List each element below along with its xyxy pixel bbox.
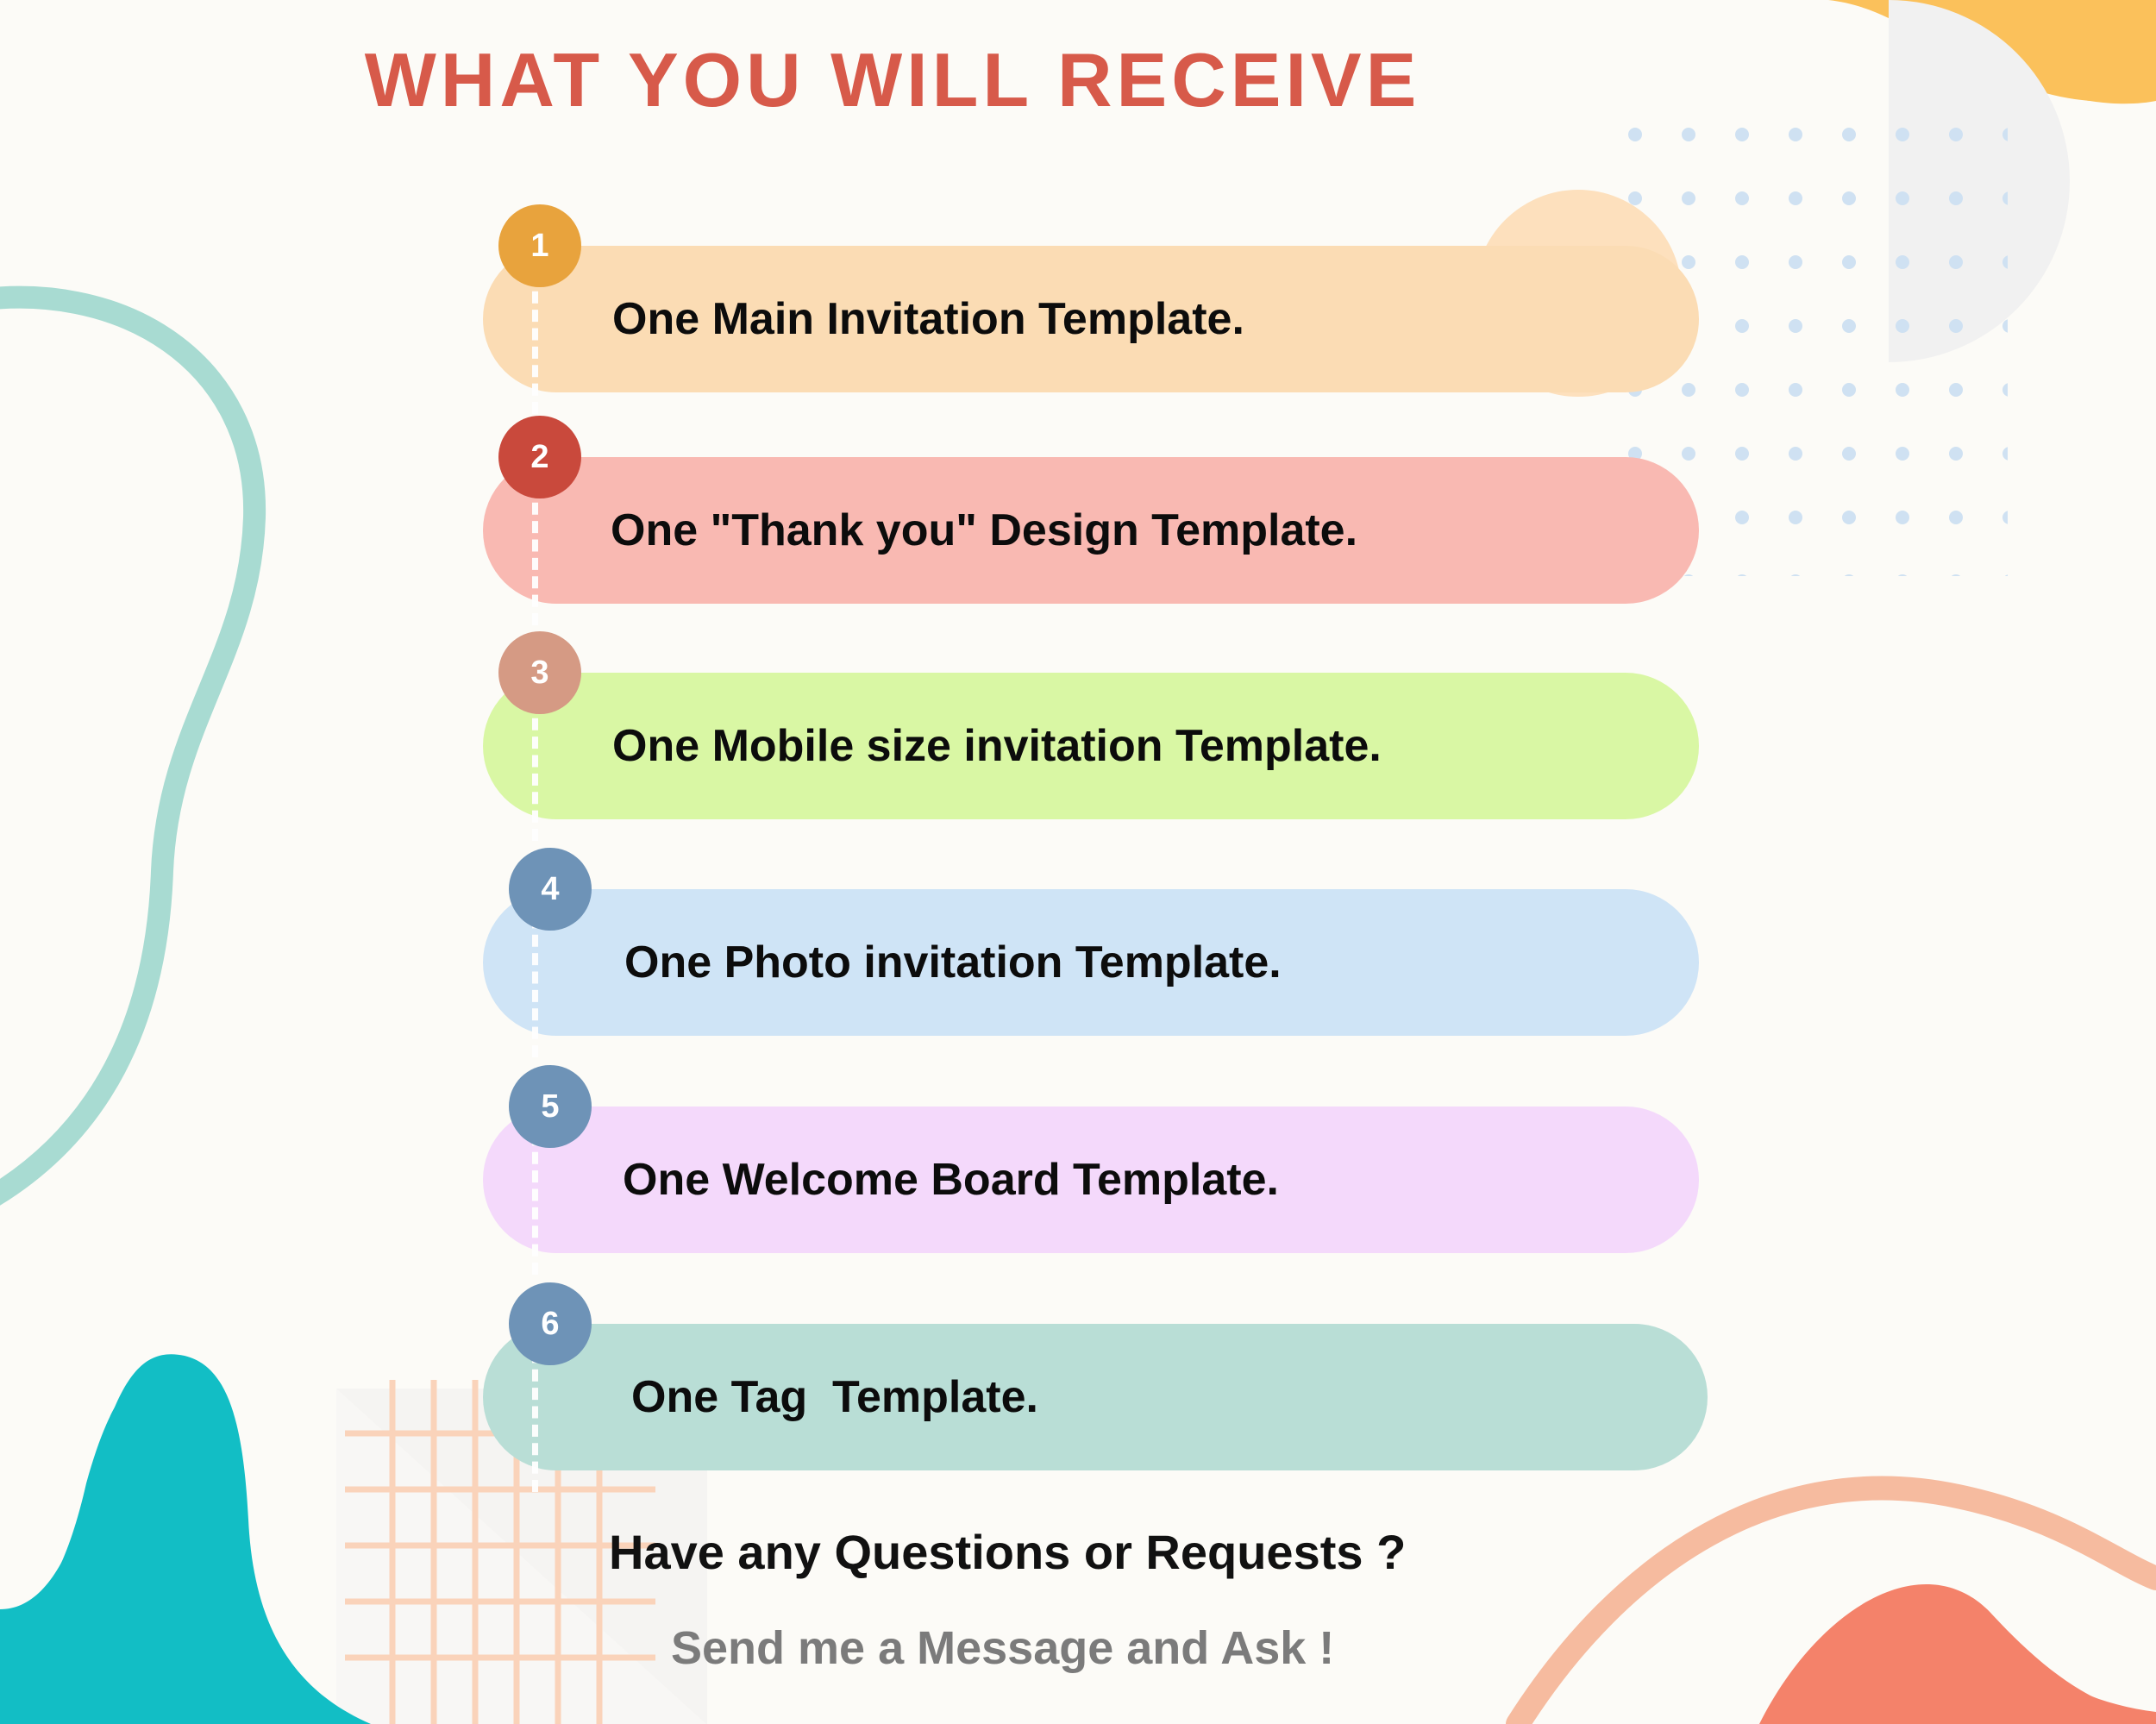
- footer-question: Have any Questions or Requests ?: [609, 1524, 1406, 1580]
- item-number-badge: 3: [498, 631, 581, 714]
- item-number-badge: 1: [498, 204, 581, 287]
- infographic-page: WHAT YOU WILL RECEIVE 1 One Main Invitat…: [0, 0, 2156, 1724]
- item-number: 3: [530, 656, 548, 689]
- item-number: 6: [541, 1307, 559, 1340]
- benefits-list: 1 One Main Invitation Template. 2 One "T…: [0, 0, 2156, 1724]
- footer-answer: Send me a Message and Ask !: [671, 1621, 1334, 1675]
- item-number: 5: [541, 1090, 559, 1123]
- item-label: One "Thank you" Design Template.: [611, 457, 1357, 604]
- item-number: 1: [530, 229, 548, 262]
- item-number-badge: 6: [509, 1282, 592, 1365]
- item-number-badge: 2: [498, 416, 581, 498]
- item-number-badge: 4: [509, 848, 592, 931]
- item-number-badge: 5: [509, 1065, 592, 1148]
- item-number: 4: [541, 873, 559, 906]
- item-label: One Photo invitation Template.: [624, 889, 1282, 1036]
- item-label: One Mobile size invitation Template.: [612, 673, 1382, 819]
- item-number: 2: [530, 441, 548, 473]
- item-label: One Tag Template.: [631, 1324, 1038, 1470]
- item-label: One Welcome Board Template.: [623, 1106, 1279, 1253]
- item-label: One Main Invitation Template.: [612, 246, 1244, 392]
